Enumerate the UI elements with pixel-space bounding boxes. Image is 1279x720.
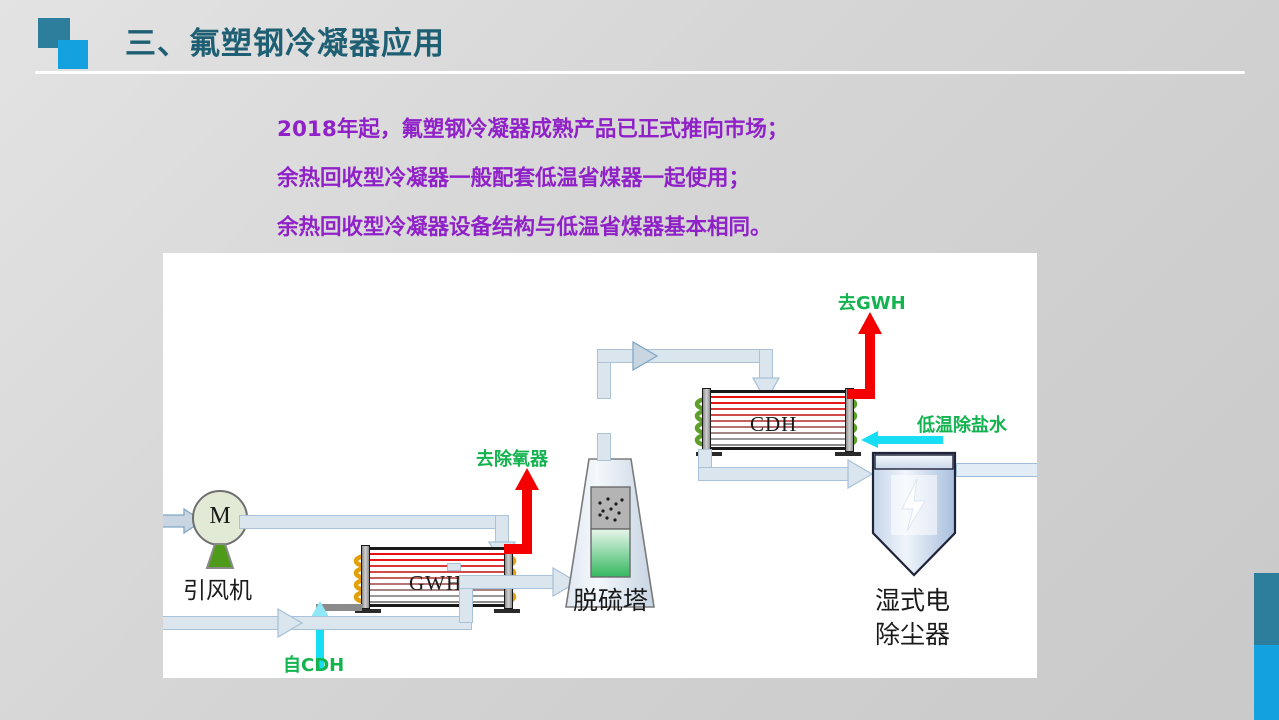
pipe-to-tower-horizontal (459, 575, 563, 589)
demin-water-cyan-pipe (875, 436, 943, 444)
pipe-cdh-to-esp (698, 467, 858, 481)
bullet-list: 2018年起，氟塑钢冷凝器成熟产品已正式推向市场； 余热回收型冷凝器一般配套低温… (277, 105, 1027, 252)
bullet-item-2: 余热回收型冷凝器一般配套低温省煤器一起使用； (277, 154, 1027, 203)
gwh-hot-water-outlet-vertical (522, 487, 532, 549)
demin-water-arrow-icon (861, 431, 879, 449)
fan-label: 引风机 (183, 571, 252, 605)
fan-base-icon (199, 543, 241, 569)
accent-bar-top (1254, 573, 1279, 645)
pipe-gwh-bottom-long (163, 616, 472, 630)
pipe-fan-to-gwh-horizontal (239, 515, 509, 529)
pipe-gwh-outlet-stub (447, 563, 461, 571)
pipe-esp-outlet (956, 463, 1037, 477)
page-title: 三、氟塑钢冷凝器应用 (125, 18, 445, 63)
cdh-right-foot (835, 452, 861, 456)
esp-label-line1: 湿式电 (875, 581, 950, 617)
to-gwh-arrow-icon (858, 312, 883, 336)
slide-header: 三、氟塑钢冷凝器应用 (0, 0, 1279, 90)
decorative-square-light (58, 40, 88, 69)
cdh-hot-water-outlet-vertical (865, 331, 875, 393)
bullet-item-1: 2018年起，氟塑钢冷凝器成熟产品已正式推向市场； (277, 105, 1027, 154)
accent-bar-bottom (1254, 645, 1279, 720)
gwh-right-foot (494, 609, 520, 613)
cdh-tube-bundle: CDH (706, 390, 848, 450)
wet-electrostatic-precipitator (869, 449, 961, 584)
cdh-label: CDH (750, 412, 797, 437)
pipe-bottom-arrow-icon (276, 608, 306, 638)
from-cdh-label: 自CDH (283, 651, 344, 677)
esp-shape-icon (869, 449, 961, 579)
gwh-label: GWH (409, 571, 462, 596)
header-divider (35, 71, 1245, 74)
to-gwh-label: 去GWH (838, 289, 906, 315)
gwh-left-header (361, 545, 370, 609)
esp-label-line2: 除尘器 (875, 615, 950, 651)
process-flow-diagram: M 引风机 (163, 253, 1037, 678)
pipe-tower-top-riser (597, 433, 611, 461)
tower-label: 脱硫塔 (573, 581, 648, 617)
cdh-feed-arrow-icon (631, 341, 661, 371)
bullet-item-3: 余热回收型冷凝器设备结构与低温省煤器基本相同。 (277, 203, 1027, 252)
to-deaerator-label: 去除氧器 (476, 445, 548, 471)
demin-water-label: 低温除盐水 (917, 411, 1007, 437)
to-deaerator-arrow-icon (515, 468, 540, 492)
pipe-top-to-cdh (597, 349, 773, 363)
cdh-left-header (702, 388, 711, 452)
